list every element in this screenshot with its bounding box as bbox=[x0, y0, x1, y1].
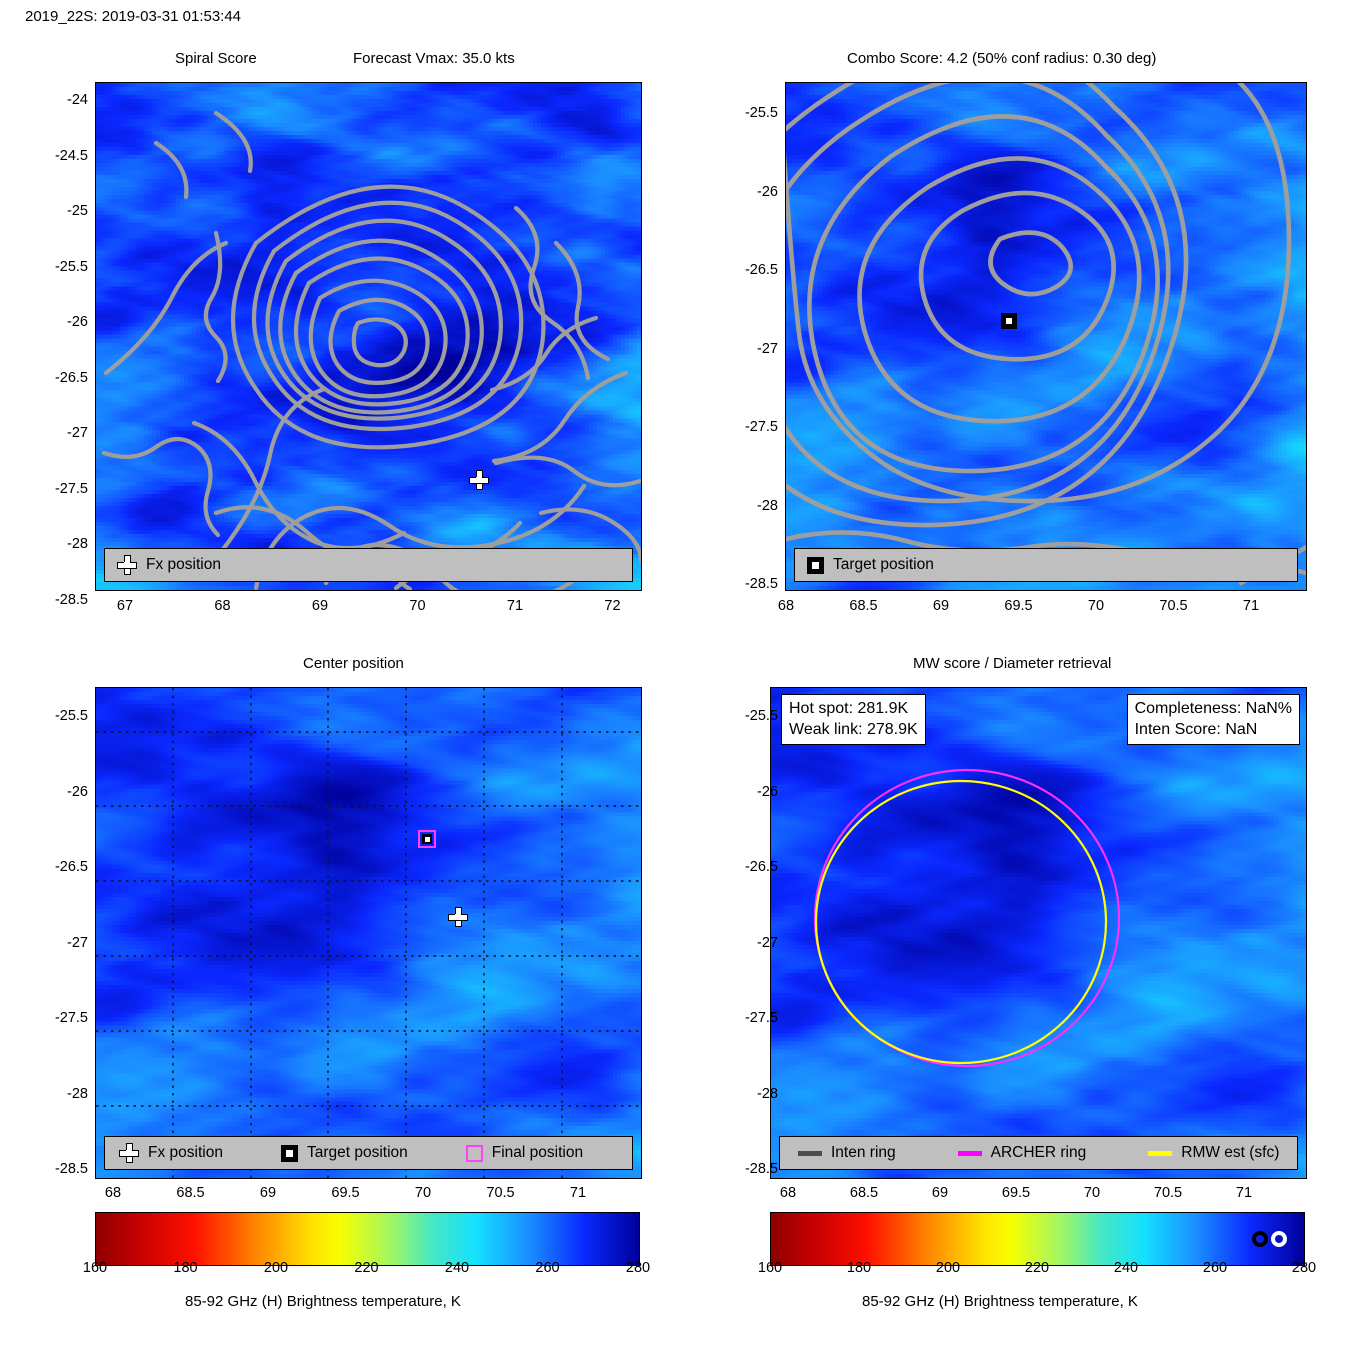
panel-title-center-position: Center position bbox=[303, 655, 404, 672]
colorbar-top-tick: 68 bbox=[780, 1185, 796, 1201]
hot-spot-value: Hot spot: 281.9K bbox=[789, 698, 918, 719]
colorbar-top-tick: 69.5 bbox=[331, 1185, 359, 1201]
legend-label: Fx position bbox=[148, 1144, 223, 1162]
y-tick-label: -28.5 bbox=[55, 592, 88, 608]
archer-ring bbox=[815, 770, 1119, 1066]
x-tick-label: 69 bbox=[312, 598, 328, 614]
combo-score-panel[interactable]: Target position bbox=[785, 82, 1307, 591]
y-tick-label: -25.5 bbox=[745, 708, 778, 724]
legend-spiral-score[interactable]: Fx position bbox=[104, 548, 633, 582]
y-tick-label: -26 bbox=[757, 184, 778, 200]
x-tick-label: 67 bbox=[117, 598, 133, 614]
x-tick-label: 70.5 bbox=[1159, 598, 1187, 614]
colorbar-top-tick: 71 bbox=[570, 1185, 586, 1201]
page-title: 2019_22S: 2019-03-31 01:53:44 bbox=[25, 8, 241, 25]
y-tick-label: -28 bbox=[67, 1086, 88, 1102]
y-tick-label: -26 bbox=[67, 314, 88, 330]
fx-position-marker bbox=[448, 907, 472, 931]
legend-label: Final position bbox=[492, 1144, 583, 1162]
panel-title-combo-score: Combo Score: 4.2 (50% conf radius: 0.30 … bbox=[847, 50, 1156, 67]
target-position-marker bbox=[1001, 313, 1017, 329]
completeness-info-box: Completeness: NaN% Inten Score: NaN bbox=[1127, 694, 1300, 745]
legend-label: Fx position bbox=[146, 556, 221, 574]
colorbar-left bbox=[95, 1212, 640, 1266]
y-tick-label: -26.5 bbox=[55, 370, 88, 386]
colorbar-top-tick: 69 bbox=[932, 1185, 948, 1201]
y-tick-label: -27 bbox=[67, 425, 88, 441]
center-position-gridlines bbox=[96, 688, 641, 1178]
colorbar-bottom-tick: 280 bbox=[626, 1260, 650, 1276]
legend-combo-score[interactable]: Target position bbox=[794, 548, 1298, 582]
white-plus-icon bbox=[119, 1143, 139, 1163]
archer-ring-line-icon bbox=[958, 1151, 982, 1156]
legend-item-fx-position[interactable]: Fx position bbox=[119, 1143, 223, 1163]
spiral-score-panel[interactable]: Fx position bbox=[95, 82, 642, 591]
legend-label: Target position bbox=[833, 556, 934, 574]
y-tick-label: -26.5 bbox=[745, 262, 778, 278]
target-square-icon bbox=[281, 1145, 298, 1162]
colorbar-bottom-tick: 260 bbox=[535, 1260, 559, 1276]
fx-position-marker bbox=[469, 470, 491, 492]
y-tick-label: -27.5 bbox=[745, 419, 778, 435]
center-position-panel[interactable]: Fx position Target position Final positi… bbox=[95, 687, 642, 1179]
colorbar-top-tick: 68 bbox=[105, 1185, 121, 1201]
colorbar-bottom-tick: 240 bbox=[445, 1260, 469, 1276]
colorbar-right-caption: 85-92 GHz (H) Brightness temperature, K bbox=[862, 1293, 1138, 1310]
combo-score-contours bbox=[786, 83, 1306, 590]
colorbar-right bbox=[770, 1212, 1305, 1266]
y-tick-label: -26.5 bbox=[55, 859, 88, 875]
y-tick-label: -27.5 bbox=[745, 1010, 778, 1026]
colorbar-bottom-tick: 180 bbox=[173, 1260, 197, 1276]
x-tick-label: 68.5 bbox=[849, 598, 877, 614]
legend-item-target-position[interactable]: Target position bbox=[807, 556, 934, 574]
colorbar-top-tick: 70 bbox=[1084, 1185, 1100, 1201]
y-tick-label: -27.5 bbox=[55, 1010, 88, 1026]
x-tick-label: 69 bbox=[933, 598, 949, 614]
colorbar-top-tick: 70.5 bbox=[486, 1185, 514, 1201]
colorbar-left-caption: 85-92 GHz (H) Brightness temperature, K bbox=[185, 1293, 461, 1310]
y-tick-label: -28 bbox=[757, 1086, 778, 1102]
y-tick-label: -26 bbox=[757, 784, 778, 800]
colorbar-bottom-tick: 200 bbox=[264, 1260, 288, 1276]
final-square-icon bbox=[466, 1145, 483, 1162]
white-plus-icon bbox=[117, 555, 137, 575]
colorbar-top-tick: 71 bbox=[1236, 1185, 1252, 1201]
y-tick-label: -28.5 bbox=[745, 1161, 778, 1177]
y-tick-label: -28 bbox=[67, 536, 88, 552]
legend-center-position[interactable]: Fx position Target position Final positi… bbox=[104, 1136, 633, 1170]
mw-score-panel[interactable]: Hot spot: 281.9K Weak link: 278.9K Compl… bbox=[770, 687, 1307, 1179]
x-tick-label: 72 bbox=[604, 598, 620, 614]
legend-item-inten-ring[interactable]: Inten ring bbox=[798, 1144, 896, 1162]
legend-item-rmw-est[interactable]: RMW est (sfc) bbox=[1148, 1144, 1279, 1162]
colorbar-top-tick: 68.5 bbox=[176, 1185, 204, 1201]
completeness-value: Completeness: NaN% bbox=[1135, 698, 1292, 719]
legend-mw-score[interactable]: Inten ring ARCHER ring RMW est (sfc) bbox=[779, 1136, 1298, 1170]
weak-link-value: Weak link: 278.9K bbox=[789, 719, 918, 740]
hotspot-info-box: Hot spot: 281.9K Weak link: 278.9K bbox=[781, 694, 926, 745]
x-tick-label: 71 bbox=[1243, 598, 1259, 614]
colorbar-bottom-tick: 180 bbox=[847, 1260, 871, 1276]
legend-item-fx-position[interactable]: Fx position bbox=[117, 555, 221, 575]
colorbar-bottom-tick: 220 bbox=[1025, 1260, 1049, 1276]
inten-score-value: Inten Score: NaN bbox=[1135, 719, 1292, 740]
legend-label: Inten ring bbox=[831, 1144, 896, 1162]
colorbar-bottom-tick: 160 bbox=[83, 1260, 107, 1276]
colorbar-top-tick: 69 bbox=[260, 1185, 276, 1201]
y-tick-label: -25.5 bbox=[55, 708, 88, 724]
y-tick-label: -27.5 bbox=[55, 481, 88, 497]
final-position-marker bbox=[418, 830, 436, 848]
forecast-vmax-label: Forecast Vmax: 35.0 kts bbox=[353, 50, 515, 67]
y-tick-label: -24.5 bbox=[55, 148, 88, 164]
y-tick-label: -27 bbox=[757, 341, 778, 357]
y-tick-label: -24 bbox=[67, 92, 88, 108]
legend-label: RMW est (sfc) bbox=[1181, 1144, 1279, 1162]
inten-ring-line-icon bbox=[798, 1151, 822, 1156]
colorbar-bottom-tick: 240 bbox=[1114, 1260, 1138, 1276]
legend-label: ARCHER ring bbox=[991, 1144, 1087, 1162]
legend-item-archer-ring[interactable]: ARCHER ring bbox=[958, 1144, 1087, 1162]
x-tick-label: 71 bbox=[507, 598, 523, 614]
y-tick-label: -27 bbox=[67, 935, 88, 951]
panel-title-mw-score: MW score / Diameter retrieval bbox=[913, 655, 1111, 672]
target-square-icon bbox=[807, 557, 824, 574]
colorbar-top-tick: 70 bbox=[415, 1185, 431, 1201]
y-tick-label: -26.5 bbox=[745, 859, 778, 875]
rmw-est-line-icon bbox=[1148, 1151, 1172, 1156]
y-tick-label: -28.5 bbox=[55, 1161, 88, 1177]
legend-item-final-position[interactable]: Final position bbox=[466, 1144, 583, 1162]
colorbar-top-tick: 70.5 bbox=[1154, 1185, 1182, 1201]
colorbar-top-tick: 68.5 bbox=[850, 1185, 878, 1201]
panel-title-spiral-score: Spiral Score bbox=[175, 50, 257, 67]
colorbar-bottom-tick: 220 bbox=[354, 1260, 378, 1276]
y-tick-label: -25 bbox=[67, 203, 88, 219]
spiral-score-contours bbox=[96, 83, 641, 590]
colorbar-top-tick: 69.5 bbox=[1002, 1185, 1030, 1201]
y-tick-label: -25.5 bbox=[745, 105, 778, 121]
y-tick-label: -28 bbox=[757, 498, 778, 514]
colorbar-bottom-tick: 280 bbox=[1292, 1260, 1316, 1276]
weak-link-marker bbox=[1252, 1231, 1268, 1247]
legend-item-target-position[interactable]: Target position bbox=[281, 1144, 408, 1162]
legend-label: Target position bbox=[307, 1144, 408, 1162]
diameter-rings bbox=[771, 688, 1306, 1178]
y-tick-label: -25.5 bbox=[55, 259, 88, 275]
x-tick-label: 69.5 bbox=[1004, 598, 1032, 614]
colorbar-bottom-tick: 160 bbox=[758, 1260, 782, 1276]
hot-spot-marker bbox=[1271, 1231, 1287, 1247]
colorbar-bottom-tick: 260 bbox=[1203, 1260, 1227, 1276]
y-tick-label: -28.5 bbox=[745, 576, 778, 592]
x-tick-label: 68 bbox=[778, 598, 794, 614]
x-tick-label: 70 bbox=[409, 598, 425, 614]
y-tick-label: -27 bbox=[757, 935, 778, 951]
rmw-est-ring bbox=[816, 781, 1106, 1063]
y-tick-label: -26 bbox=[67, 784, 88, 800]
x-tick-label: 70 bbox=[1088, 598, 1104, 614]
x-tick-label: 68 bbox=[214, 598, 230, 614]
colorbar-bottom-tick: 200 bbox=[936, 1260, 960, 1276]
